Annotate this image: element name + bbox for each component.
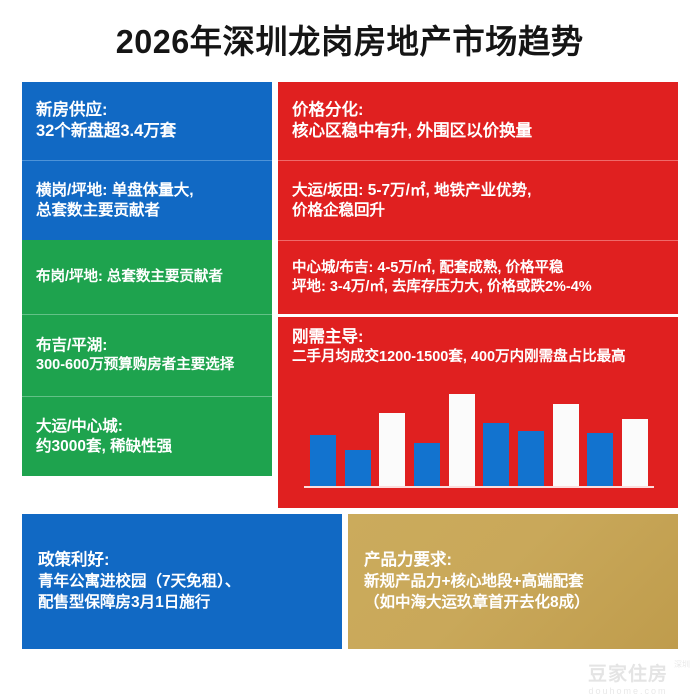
infographic-board: 新房供应: 32个新盘超3.4万套 横岗/坪地: 单盘体量大, 总套数主要贡献者… bbox=[22, 82, 678, 649]
chart-bars bbox=[310, 375, 648, 486]
chart-bar bbox=[449, 394, 475, 486]
card-rigid-demand-heading: 刚需主导: bbox=[292, 327, 664, 348]
card-policy-heading: 政策利好: bbox=[38, 549, 326, 571]
card-zhongxincheng-line1: 中心城/布吉: 4-5万/㎡, 配套成熟, 价格平稳 bbox=[292, 259, 664, 278]
card-policy-line2: 配售型保障房3月1日施行 bbox=[38, 593, 326, 614]
card-new-supply: 新房供应: 32个新盘超3.4万套 bbox=[22, 82, 272, 160]
card-henggang-pingdi: 横岗/坪地: 单盘体量大, 总套数主要贡献者 bbox=[22, 160, 272, 240]
chart-bar bbox=[310, 435, 336, 486]
card-zhongxincheng-buji: 中心城/布吉: 4-5万/㎡, 配套成熟, 价格平稳 坪地: 3-4万/㎡, 去… bbox=[278, 240, 678, 314]
card-dayun-zhongxincheng: 大运/中心城: 约3000套, 稀缺性强 bbox=[22, 396, 272, 476]
chart-bar bbox=[518, 431, 544, 486]
card-product-line1: 新规产品力+核心地段+高端配套 bbox=[364, 572, 662, 593]
rigid-demand-bar-chart bbox=[304, 375, 654, 498]
chart-bar bbox=[587, 433, 613, 486]
card-bugang-pingdi: 布岗/坪地: 总套数主要贡献者 bbox=[22, 240, 272, 314]
bottom-row: 政策利好: 青年公寓进校园（7天免租）、 配售型保障房3月1日施行 产品力要求:… bbox=[22, 514, 678, 649]
chart-bar bbox=[483, 423, 509, 486]
main-grid: 新房供应: 32个新盘超3.4万套 横岗/坪地: 单盘体量大, 总套数主要贡献者… bbox=[22, 82, 678, 508]
card-dayun-bantian-line2: 价格企稳回升 bbox=[292, 201, 664, 221]
card-bugang-line1: 布岗/坪地: 总套数主要贡献者 bbox=[36, 268, 258, 287]
card-policy-benefits: 政策利好: 青年公寓进校园（7天免租）、 配售型保障房3月1日施行 bbox=[22, 514, 342, 649]
card-buji-line1: 300-600万预算购房者主要选择 bbox=[36, 356, 258, 375]
card-henggang-line2: 总套数主要贡献者 bbox=[36, 201, 258, 221]
card-product-heading: 产品力要求: bbox=[364, 549, 662, 571]
card-dayun-heading: 大运/中心城: bbox=[36, 417, 258, 437]
card-new-supply-line1: 32个新盘超3.4万套 bbox=[36, 121, 258, 142]
chart-baseline-axis bbox=[304, 486, 654, 488]
watermark: 豆家住房 深圳 douhome.com bbox=[564, 659, 692, 696]
card-new-supply-heading: 新房供应: bbox=[36, 100, 258, 121]
right-column: 价格分化: 核心区稳中有升, 外围区以价换量 大运/坂田: 5-7万/㎡, 地铁… bbox=[278, 82, 678, 508]
watermark-city-badge: 深圳 bbox=[674, 659, 690, 670]
card-price-line1: 核心区稳中有升, 外围区以价换量 bbox=[292, 121, 664, 142]
chart-bar bbox=[379, 413, 405, 486]
left-column: 新房供应: 32个新盘超3.4万套 横岗/坪地: 单盘体量大, 总套数主要贡献者… bbox=[22, 82, 272, 508]
chart-bar bbox=[414, 443, 440, 486]
chart-heading-group: 刚需主导: 二手月均成交1200-1500套, 400万内刚需盘占比最高 bbox=[292, 327, 664, 367]
card-buji-heading: 布吉/平湖: bbox=[36, 336, 258, 356]
card-product-requirements: 产品力要求: 新规产品力+核心地段+高端配套 （如中海大运玖章首开去化8成） bbox=[348, 514, 678, 649]
card-policy-line1: 青年公寓进校园（7天免租）、 bbox=[38, 572, 326, 593]
chart-bar bbox=[553, 404, 579, 486]
page-title: 2026年深圳龙岗房地产市场趋势 bbox=[116, 15, 584, 63]
card-dayun-line1: 约3000套, 稀缺性强 bbox=[36, 437, 258, 457]
card-pingdi-line2: 坪地: 3-4万/㎡, 去库存压力大, 价格或跌2%-4% bbox=[292, 278, 664, 297]
chart-bar bbox=[622, 419, 648, 486]
card-rigid-demand: 刚需主导: 二手月均成交1200-1500套, 400万内刚需盘占比最高 bbox=[278, 314, 678, 508]
card-price-differentiation: 价格分化: 核心区稳中有升, 外围区以价换量 bbox=[278, 82, 678, 160]
header: 2026年深圳龙岗房地产市场趋势 bbox=[0, 0, 700, 78]
card-henggang-line1: 横岗/坪地: 单盘体量大, bbox=[36, 181, 258, 201]
watermark-url: douhome.com bbox=[564, 686, 692, 696]
card-price-heading: 价格分化: bbox=[292, 100, 664, 121]
card-buji-pinghu: 布吉/平湖: 300-600万预算购房者主要选择 bbox=[22, 314, 272, 396]
card-rigid-demand-line1: 二手月均成交1200-1500套, 400万内刚需盘占比最高 bbox=[292, 348, 664, 367]
chart-bar bbox=[345, 450, 371, 486]
card-product-line2: （如中海大运玖章首开去化8成） bbox=[364, 593, 662, 614]
card-dayun-bantian: 大运/坂田: 5-7万/㎡, 地铁产业优势, 价格企稳回升 bbox=[278, 160, 678, 240]
card-dayun-bantian-line1: 大运/坂田: 5-7万/㎡, 地铁产业优势, bbox=[292, 181, 664, 201]
watermark-brand: 豆家住房 bbox=[564, 659, 692, 686]
